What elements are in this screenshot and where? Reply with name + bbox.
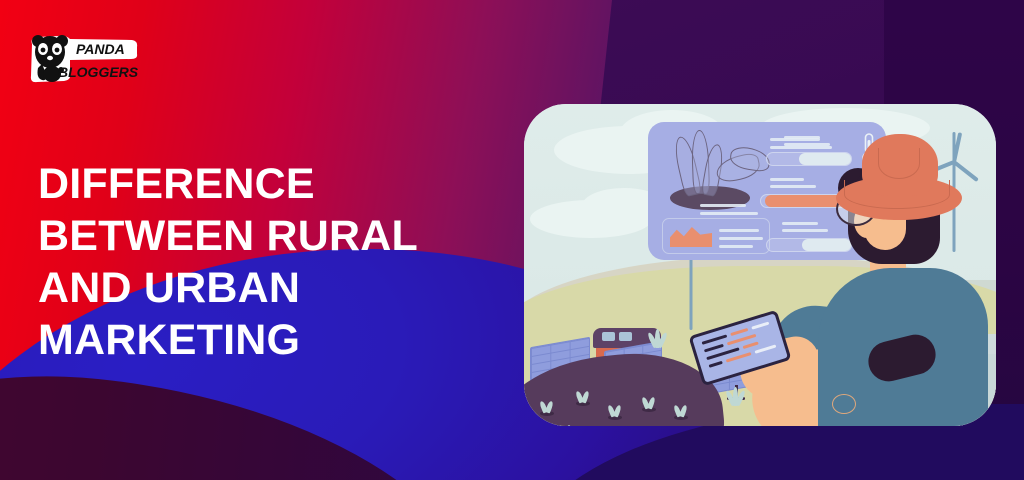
grass-tuft [650, 328, 666, 348]
sprout-plant [674, 404, 688, 420]
sprout-plant [558, 424, 572, 426]
elbow-detail [832, 394, 856, 414]
text-placeholder-line [719, 245, 753, 248]
logo-text-panda: PANDA [76, 41, 125, 57]
headline-line-1: DIFFERENCE [38, 158, 508, 210]
text-placeholder-line [719, 237, 763, 240]
sprout-plant [540, 400, 554, 416]
text-placeholder-line [770, 178, 804, 181]
poster-canvas: PANDA BLOGGERS DIFFERENCE BETWEEN RURAL … [0, 0, 1024, 480]
logo-text-bloggers: BLOGGERS [58, 64, 139, 80]
sun-hat [836, 134, 962, 218]
sprout-plant [576, 390, 590, 406]
area-chart-card[interactable] [662, 218, 770, 254]
page-title: DIFFERENCE BETWEEN RURAL AND URBAN MARKE… [38, 158, 508, 366]
grass-tuft [728, 386, 744, 406]
smart-farming-illustration [524, 104, 996, 426]
sprout-plant [608, 404, 622, 420]
farmer-person [810, 130, 996, 426]
panda-bloggers-logo[interactable]: PANDA BLOGGERS [28, 34, 140, 86]
headline-line-2: BETWEEN RURAL [38, 210, 508, 262]
text-placeholder-line [700, 204, 746, 207]
headline-line-4: MARKETING [38, 314, 508, 366]
panda-logo-icon: PANDA BLOGGERS [28, 34, 140, 86]
text-placeholder-line [700, 212, 758, 215]
sprout-plant [642, 396, 656, 412]
headline-line-3: AND URBAN [38, 262, 508, 314]
area-chart-icon [670, 227, 712, 247]
text-placeholder-line [719, 229, 759, 232]
